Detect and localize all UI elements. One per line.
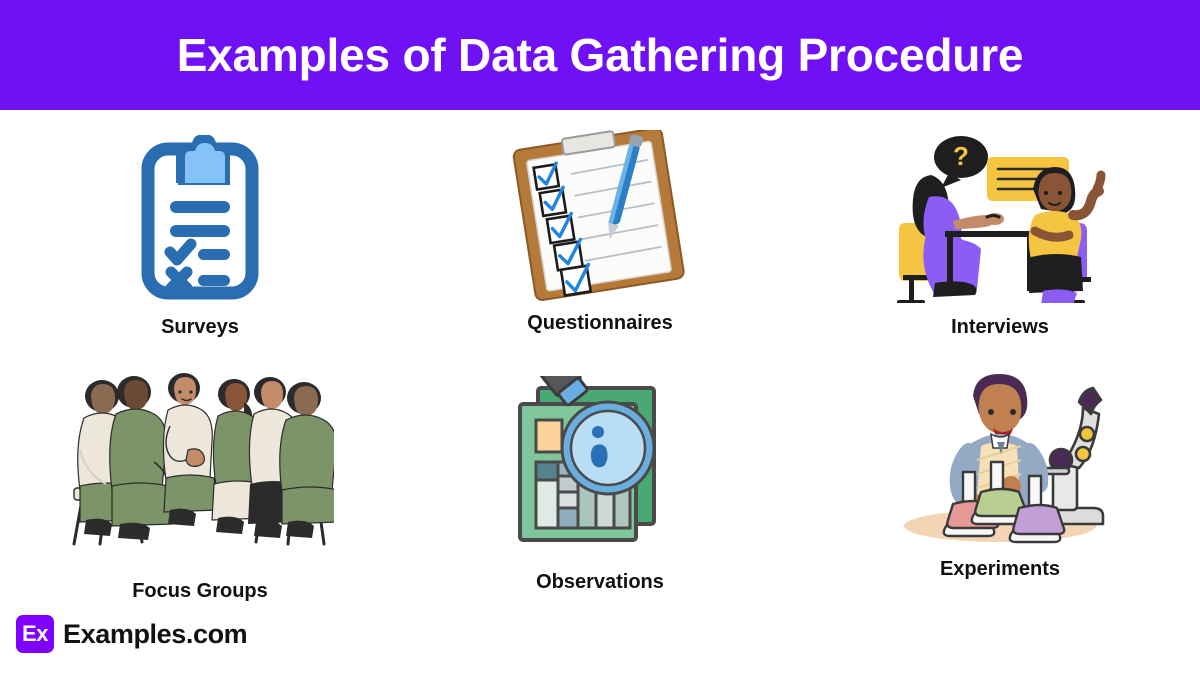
grid-item-questionnaires[interactable]: Questionnaires — [400, 110, 800, 358]
grid-item-focus-groups[interactable]: Focus Groups — [0, 358, 400, 606]
grid-item-observations[interactable]: Observations — [400, 358, 800, 606]
page-header: Examples of Data Gathering Procedure — [0, 0, 1200, 110]
two-people-talking-icon: ? — [883, 135, 1118, 303]
examples-grid: Surveys — [0, 110, 1200, 605]
grid-item-interviews[interactable]: ? — [800, 110, 1200, 358]
surveys-illustration — [140, 135, 260, 300]
experiments-illustration — [895, 368, 1105, 553]
grid-item-label: Experiments — [940, 558, 1060, 581]
examples-logo-mark: Ex — [16, 615, 54, 653]
grid-item-label: Questionnaires — [527, 312, 673, 335]
grid-item-label: Focus Groups — [132, 580, 268, 603]
group-circle-seated-icon — [66, 366, 334, 556]
examples-logo-text: Examples.com — [63, 619, 247, 650]
focus-groups-illustration — [66, 366, 334, 556]
interviews-illustration: ? — [883, 135, 1118, 303]
grid-item-surveys[interactable]: Surveys — [0, 110, 400, 358]
grid-item-label: Surveys — [161, 316, 239, 339]
grid-item-experiments[interactable]: Experiments — [800, 358, 1200, 606]
site-footer-logo[interactable]: Ex Examples.com — [16, 615, 247, 653]
questionnaires-illustration — [500, 130, 700, 302]
observations-illustration — [508, 376, 693, 556]
grid-item-label: Interviews — [951, 316, 1049, 339]
clipboard-checklist-icon — [140, 135, 260, 300]
magnifier-over-documents-icon — [508, 376, 693, 556]
tilted-clipboard-with-pen-icon — [500, 130, 700, 302]
svg-text:?: ? — [953, 141, 969, 171]
grid-item-label: Observations — [536, 571, 664, 594]
page-title: Examples of Data Gathering Procedure — [177, 32, 1024, 78]
scientist-with-flasks-icon — [895, 368, 1105, 553]
